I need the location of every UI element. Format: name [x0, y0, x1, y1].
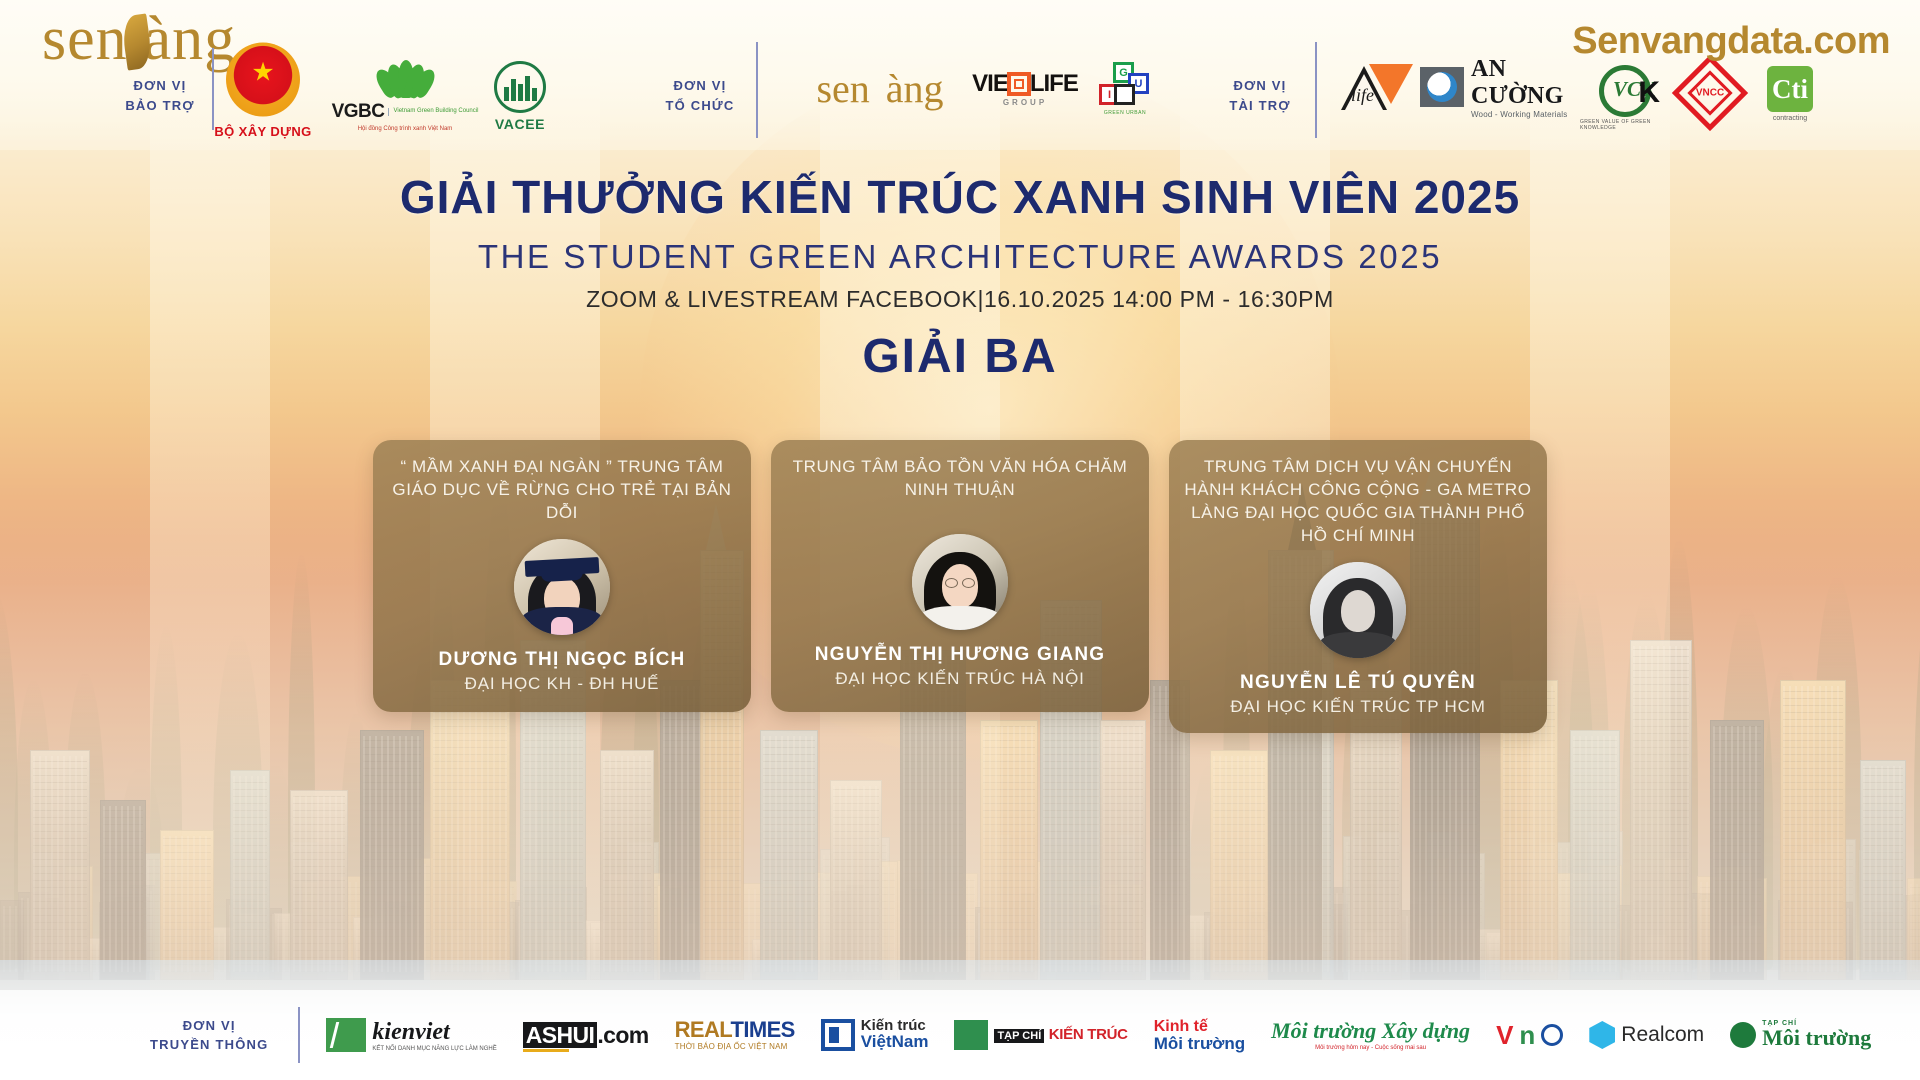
vacee-ring-icon — [494, 61, 546, 113]
winner-school: ĐẠI HỌC KIẾN TRÚC HÀ NỘI — [835, 669, 1084, 689]
sponsor-group-label-to-chuc: ĐƠN VỊ TỔ CHỨC — [655, 76, 745, 115]
logo-vncc[interactable]: VNCC — [1672, 60, 1748, 126]
logo-sub: GREEN URBAN — [1104, 110, 1146, 116]
winner-card[interactable]: TRUNG TÂM DỊCH VỤ VẬN CHUYỂN HÀNH KHÁCH … — [1169, 440, 1547, 733]
vncc-diamond-icon: VNCC — [1672, 55, 1748, 131]
logo-label: kienviet — [372, 1019, 496, 1046]
logo-moi-truong-xay-dung[interactable]: Môi trường Xây dựng Môi trường hôm nay -… — [1271, 1020, 1470, 1051]
logo-sub: contracting — [1773, 115, 1807, 122]
winner-school: ĐẠI HỌC KIẾN TRÚC TP HCM — [1230, 697, 1485, 717]
logo-label-a: Kiến trúc — [861, 1018, 929, 1033]
logo-label-b: Môi trường — [1762, 1025, 1871, 1050]
logo-label: Môi trường Xây dựng — [1271, 1018, 1470, 1043]
sponsor-group-label-tai-tro: ĐƠN VỊ TÀI TRỢ — [1215, 76, 1305, 115]
logo-sub: KẾT NỐI DANH MỤC NĂNG LỰC LÀM NGHỀ — [372, 1046, 496, 1052]
logo-label-b: ViệtNam — [861, 1033, 929, 1052]
logo-ibu-green-urban[interactable]: G U I GREEN URBAN — [1085, 52, 1165, 126]
winner-avatar — [912, 534, 1008, 630]
logo-vgbc[interactable]: VGBC Vietnam Green Building Council Hội … — [330, 46, 480, 142]
winner-name: DƯƠNG THỊ NGỌC BÍCH — [439, 649, 686, 671]
footer-bar: ĐƠN VỊ TRUYỀN THÔNG kienviet KẾT NỐI DAN… — [0, 990, 1920, 1080]
event-schedule: ZOOM & LIVESTREAM FACEBOOK|16.10.2025 14… — [0, 286, 1920, 313]
logo-label: VGBC — [332, 101, 385, 123]
winner-avatar — [1310, 562, 1406, 658]
media-partner-label: ĐƠN VỊ TRUYỀN THÔNG — [150, 1016, 268, 1055]
logo-cti-contracting[interactable]: Cti contracting — [1745, 58, 1835, 130]
logo-tap-chi-moi-truong[interactable]: TẠP CHÍ Môi trường — [1730, 1020, 1871, 1050]
glasses-icon — [945, 578, 975, 588]
sponsor-group-label-bao-tro: ĐƠN VỊ BẢO TRỢ — [120, 76, 200, 115]
circle-icon — [1541, 1024, 1563, 1046]
title-block: GIẢI THƯỞNG KIẾN TRÚC XANH SINH VIÊN 202… — [0, 170, 1920, 384]
logo-ashui[interactable]: ASHUI.com — [523, 1022, 649, 1049]
label-line-2: TRUYỀN THÔNG — [150, 1035, 268, 1055]
logo-kinh-te-moi-truong[interactable]: Kinh tế Môi trường — [1154, 1019, 1245, 1052]
alife-triangle-icon: life — [1341, 62, 1413, 110]
logo-vietlife[interactable]: VIELIFE GROUP — [945, 58, 1105, 118]
logo-label-a: REAL — [675, 1017, 731, 1042]
logo-label-b: Môi trường — [1154, 1035, 1245, 1052]
logo-sub: GROUP — [1003, 98, 1047, 107]
logo-sub: GREEN VALUE OF GREEN KNOWLEDGE — [1580, 119, 1670, 131]
square-icon — [1007, 72, 1031, 96]
logo-alife[interactable]: life — [1332, 56, 1422, 116]
logo-label-b: KIẾN TRÚC — [1049, 1026, 1128, 1043]
footer-divider — [298, 1007, 300, 1063]
an-cuong-mark-icon — [1420, 67, 1464, 107]
ibu-cubes-icon: G U I — [1099, 62, 1151, 108]
poster-stage: senàng ĐƠN VỊ BẢO TRỢ BỘ XÂY DỰNG VGBC — [0, 0, 1920, 1080]
label-line-2: BẢO TRỢ — [120, 96, 200, 116]
logo-sub-vi: Hội đồng Công trình xanh Việt Nam — [358, 126, 453, 132]
logo-label-a: TẠP CHÍ — [994, 1029, 1044, 1043]
divider-2 — [756, 42, 758, 138]
logo-bo-xay-dung[interactable]: BỘ XÂY DỰNG — [198, 42, 328, 142]
winner-card[interactable]: TRUNG TÂM BẢO TỒN VĂN HÓA CHĂM NINH THUẬ… — [771, 440, 1149, 712]
divider-3 — [1315, 42, 1317, 138]
logo-sub: Môi trường hôm nay - Cuộc sống mai sau — [1271, 1045, 1470, 1051]
lotus-leaf-icon — [120, 13, 153, 70]
kienviet-mark-icon — [326, 1018, 366, 1052]
logo-vacee[interactable]: VACEE — [465, 48, 575, 144]
vgbc-leaf-icon — [379, 56, 431, 98]
label-line-1: ĐƠN VỊ — [150, 1016, 268, 1036]
prize-tier-title: GIẢI BA — [0, 329, 1920, 384]
project-title: “ MẦM XANH ĐẠI NGÀN ” TRUNG TÂM GIÁO DỤC… — [387, 456, 737, 525]
logo-label-b: TIMES — [731, 1017, 795, 1042]
logo-vck[interactable]: VCK GREEN VALUE OF GREEN KNOWLEDGE — [1580, 62, 1670, 134]
cti-mark-icon: Cti — [1767, 66, 1813, 112]
logo-tap-chi-kien-truc[interactable]: TẠP CHÍ KIẾN TRÚC — [954, 1020, 1127, 1050]
label-line-1: ĐƠN VỊ — [120, 76, 200, 96]
logo-realcom[interactable]: Realcom — [1589, 1021, 1704, 1049]
logo-kienviet[interactable]: kienviet KẾT NỐI DANH MỤC NĂNG LỰC LÀM N… — [326, 1018, 496, 1052]
tckt-mark-icon — [954, 1020, 988, 1050]
logo-label-a: Kinh tế — [1154, 1019, 1245, 1035]
national-emblem-icon — [220, 46, 306, 122]
winner-avatar — [514, 539, 610, 635]
winner-name: NGUYỄN LÊ TÚ QUYÊN — [1240, 672, 1476, 694]
logo-label: Realcom — [1621, 1023, 1704, 1047]
lotus-leaf-icon — [870, 71, 886, 105]
winner-cards: “ MẦM XANH ĐẠI NGÀN ” TRUNG TÂM GIÁO DỤC… — [0, 440, 1920, 733]
winner-name: NGUYỄN THỊ HƯƠNG GIANG — [815, 644, 1106, 666]
label-line-2: TỔ CHỨC — [655, 96, 745, 116]
logo-senvang[interactable]: sen àng — [790, 58, 970, 118]
senvangdata-watermark[interactable]: Senvangdata.com — [1572, 20, 1890, 63]
project-title: TRUNG TÂM DỊCH VỤ VẬN CHUYỂN HÀNH KHÁCH … — [1183, 456, 1533, 548]
logo-an-cuong[interactable]: AN CƯỜNG Wood - Working Materials — [1420, 56, 1605, 118]
label-line-1: ĐƠN VỊ — [1215, 76, 1305, 96]
label-line-2: TÀI TRỢ — [1215, 96, 1305, 116]
logo-label: ASHUI — [523, 1022, 598, 1048]
realcom-mark-icon — [1589, 1021, 1615, 1049]
vck-circle-icon: VCK — [1599, 65, 1651, 117]
logo-vtc[interactable]: Vn — [1496, 1020, 1563, 1051]
tcmt-mark-icon — [1730, 1022, 1756, 1048]
logo-realtimes[interactable]: REALTIMES THỜI BÁO ĐỊA ỐC VIỆT NAM — [675, 1019, 795, 1051]
project-title: TRUNG TÂM BẢO TỒN VĂN HÓA CHĂM NINH THUẬ… — [785, 456, 1135, 520]
winner-school: ĐẠI HỌC KH - ĐH HUẾ — [465, 674, 660, 694]
award-title-en: THE STUDENT GREEN ARCHITECTURE AWARDS 20… — [0, 238, 1920, 276]
winner-card[interactable]: “ MẦM XANH ĐẠI NGÀN ” TRUNG TÂM GIÁO DỤC… — [373, 440, 751, 712]
ktvn-mark-icon — [821, 1019, 855, 1051]
label-line-1: ĐƠN VỊ — [655, 76, 745, 96]
logo-label: BỘ XÂY DỰNG — [214, 124, 311, 139]
award-title-vi: GIẢI THƯỞNG KIẾN TRÚC XANH SINH VIÊN 202… — [0, 170, 1920, 224]
logo-sub: THỜI BÁO ĐỊA ỐC VIỆT NAM — [675, 1043, 795, 1051]
logo-sub: .com — [597, 1022, 648, 1048]
logo-label: VACEE — [495, 116, 545, 132]
media-partner-logos: kienviet KẾT NỐI DANH MỤC NĂNG LỰC LÀM N… — [326, 1018, 1871, 1052]
logo-kien-truc-viet-nam[interactable]: Kiến trúc ViệtNam — [821, 1018, 929, 1052]
